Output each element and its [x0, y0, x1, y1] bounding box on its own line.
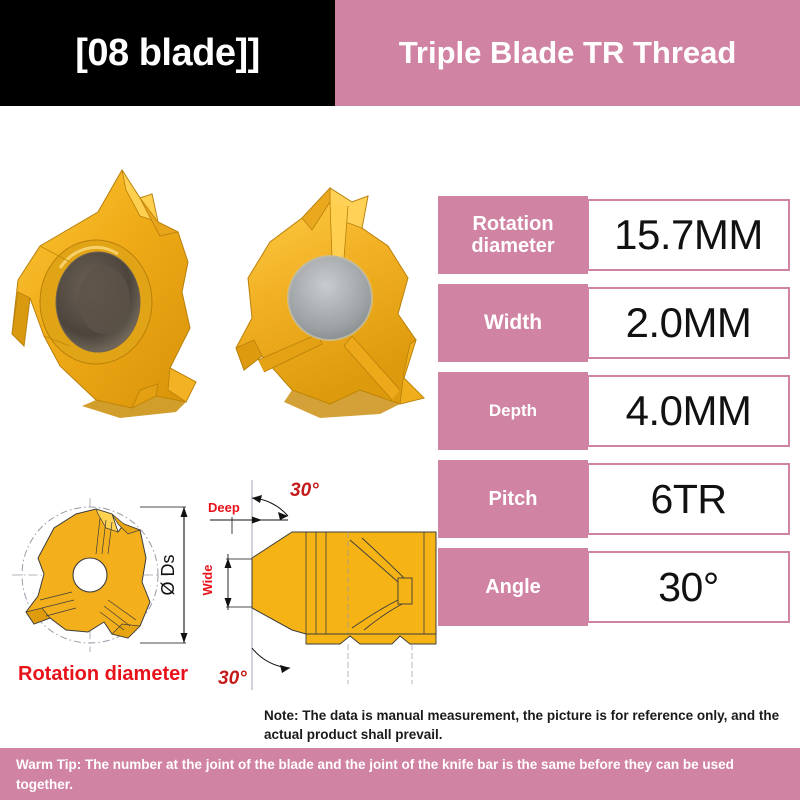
- arrow-down-icon: [181, 633, 188, 643]
- angle-arc-bottom: [252, 648, 290, 668]
- table-row: Pitch 6TR: [438, 460, 790, 538]
- arrow-right-icon: [280, 665, 290, 673]
- arrow-up-icon: [181, 507, 188, 517]
- arrow-down-icon: [225, 598, 232, 608]
- insert-photo-right: [236, 188, 424, 418]
- diagram-profile-view: 30° Deep Wide 30°: [200, 480, 436, 690]
- spec-value-angle: 30°: [587, 551, 790, 623]
- product-spec-page: [08 blade]] Triple Blade TR Thread: [0, 0, 800, 800]
- angle-top-label: 30°: [290, 480, 319, 501]
- technical-diagram-svg: Ø Ds Rotation diameter 30° Deep W: [0, 462, 440, 697]
- specification-table: Rotation diameter 15.7MM Width 2.0MM Dep…: [438, 196, 790, 636]
- table-row: Width 2.0MM: [438, 284, 790, 362]
- wide-label: Wide: [200, 565, 215, 596]
- rotation-diameter-caption: Rotation diameter: [18, 663, 188, 685]
- spec-label-width: Width: [438, 284, 588, 362]
- table-row: Depth 4.0MM: [438, 372, 790, 450]
- product-photo-group: [0, 150, 440, 450]
- insert-bore-hole: [73, 558, 107, 592]
- insert-photo-left: [12, 170, 196, 418]
- blade-code-label: [08 blade]]: [75, 32, 260, 75]
- spec-label-rotation-diameter-line2: diameter: [471, 235, 554, 257]
- table-row: Rotation diameter 15.7MM: [438, 196, 790, 274]
- arrow-right-icon: [252, 517, 262, 524]
- spec-label-pitch: Pitch: [438, 460, 588, 538]
- diagram-face-view: Ø Ds Rotation diameter: [12, 498, 188, 685]
- page-title: Triple Blade TR Thread: [399, 35, 737, 71]
- header-code-block: [08 blade]]: [0, 0, 335, 106]
- warm-tip-text: Warm Tip: The number at the joint of the…: [16, 755, 784, 794]
- spec-value-depth: 4.0MM: [587, 375, 790, 447]
- spec-label-depth: Depth: [438, 372, 588, 450]
- angle-bottom-label: 30°: [218, 668, 247, 689]
- deep-label: Deep: [208, 500, 240, 515]
- header-title-block: Triple Blade TR Thread: [335, 0, 800, 106]
- technical-diagram: Ø Ds Rotation diameter 30° Deep W: [0, 462, 440, 697]
- table-row: Angle 30°: [438, 548, 790, 626]
- arrow-right-icon: [278, 512, 288, 520]
- spec-label-rotation-diameter-line1: Rotation: [472, 213, 553, 235]
- warm-tip-banner: Warm Tip: The number at the joint of the…: [0, 748, 800, 800]
- disclaimer-note: Note: The data is manual measurement, th…: [264, 706, 789, 744]
- product-photos-svg: [0, 150, 440, 450]
- diameter-symbol-label: Ø Ds: [158, 554, 178, 595]
- spec-label-rotation-diameter: Rotation diameter: [438, 196, 588, 274]
- spec-label-angle: Angle: [438, 548, 588, 626]
- spec-value-pitch: 6TR: [587, 463, 790, 535]
- arrow-left-icon: [252, 495, 262, 503]
- page-header: [08 blade]] Triple Blade TR Thread: [0, 0, 800, 106]
- spec-value-rotation-diameter: 15.7MM: [587, 199, 790, 271]
- arrow-up-icon: [225, 558, 232, 568]
- spec-value-width: 2.0MM: [587, 287, 790, 359]
